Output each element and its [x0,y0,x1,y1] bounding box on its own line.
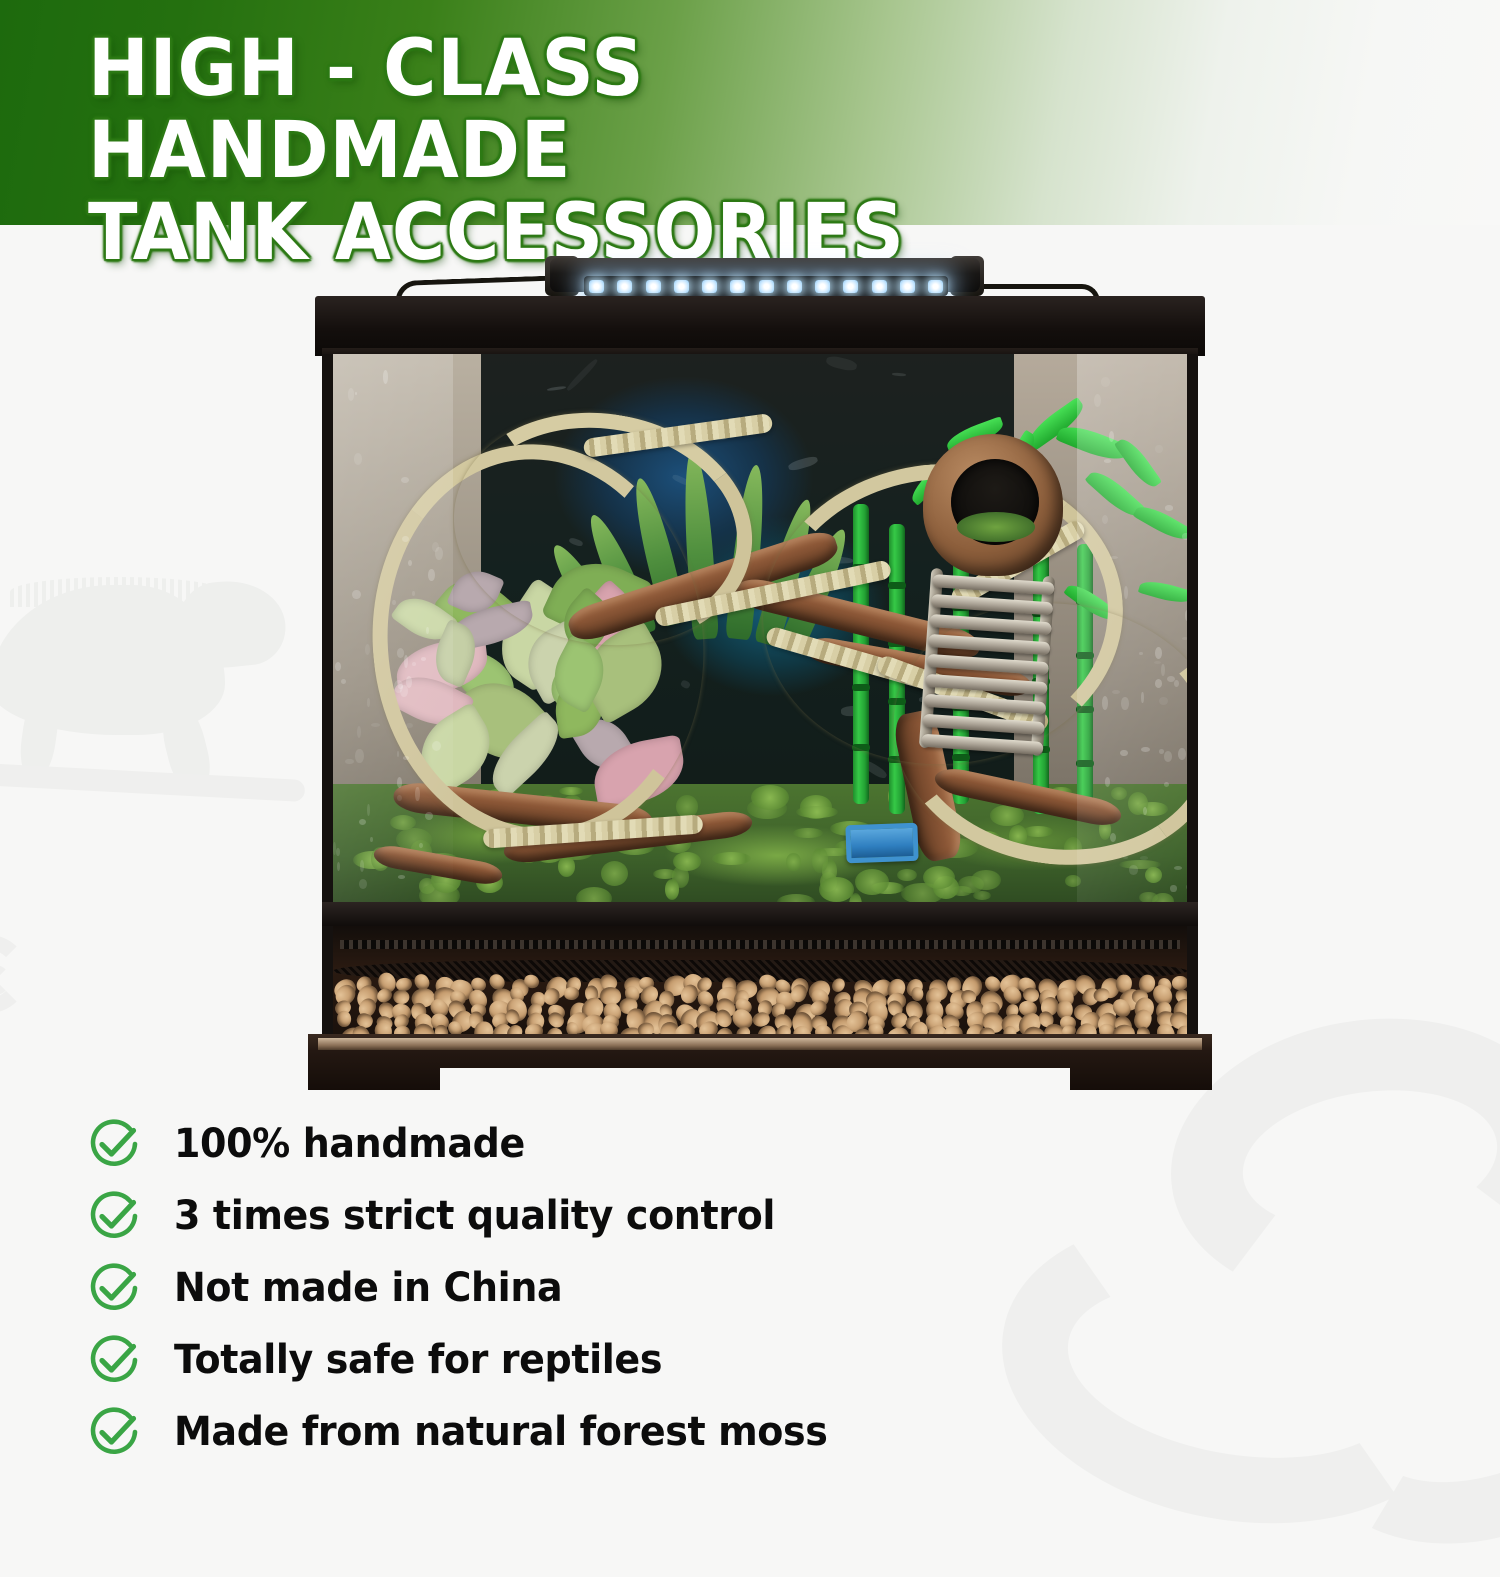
clay-pebble [1172,976,1188,990]
condensation-droplet [355,749,363,763]
rock-streak [547,386,567,392]
condensation-droplet [1185,610,1187,621]
condensation-droplet [421,657,427,661]
clay-pebble [336,1010,351,1027]
condensation-droplet [398,875,406,879]
condensation-droplet [1140,856,1148,860]
condensation-droplet [1186,885,1187,889]
condensation-droplet [397,777,402,788]
condensation-droplet [357,726,361,738]
condensation-droplet [337,862,340,871]
moss-tuft [712,852,752,865]
condensation-droplet [1170,885,1176,891]
list-item: Made from natural forest moss [86,1396,1036,1468]
condensation-droplet [402,536,409,542]
led-bulb [674,280,689,293]
led-bulb [730,280,745,293]
condensation-droplet [412,591,415,596]
condensation-droplet [1141,747,1150,752]
condensation-droplet [1155,445,1162,452]
led-strip [584,276,948,296]
condensation-droplet [1161,664,1165,676]
condensation-droplet [367,698,370,707]
chameleon-tail-inner-curl [0,965,10,995]
condensation-droplet [1164,751,1172,762]
condensation-droplet [1121,697,1128,709]
chameleon-crest [10,577,225,607]
condensation-droplet [1159,697,1168,705]
check-circle-icon [86,1332,142,1388]
moss-tuft [558,856,576,877]
list-item: Not made in China [86,1252,1036,1324]
condensation-droplet [360,860,364,872]
page-title: HIGH - CLASS HANDMADE TANK ACCESSORIES [88,28,1130,274]
condensation-droplet [1155,679,1162,688]
feature-label: 3 times strict quality control [174,1193,775,1239]
condensation-droplet [1102,696,1108,709]
condensation-droplet [432,542,439,552]
led-bulb [843,280,858,293]
feature-label: Totally safe for reptiles [174,1337,662,1383]
condensation-droplet [1167,676,1175,682]
condensation-droplet [432,741,441,751]
blue-feeding-dish [845,823,918,863]
condensation-droplet [1165,505,1174,510]
chameleon-branch [0,762,305,802]
moss-tuft [923,866,955,889]
chameleon-front-leg [16,695,61,781]
led-bulb [702,280,717,293]
coconut-hide-moss [957,512,1035,542]
condensation-droplet [1141,692,1143,703]
condensation-droplet [348,388,355,400]
check-circle-icon [86,1188,142,1244]
clay-pebble [1189,999,1198,1018]
condensation-droplet [408,560,412,566]
glass-tank [322,354,1198,914]
tank-stand-rail [318,1038,1202,1050]
snake-coil-lower [1287,1273,1500,1576]
ladder-rung [929,614,1052,635]
condensation-droplet [1104,459,1111,462]
condensation-droplet [1143,807,1147,815]
condensation-droplet [426,627,429,635]
ladder-rung [928,634,1051,655]
condensation-droplet [336,848,340,857]
condensation-droplet [1120,750,1127,757]
condensation-droplet [1129,865,1138,875]
tank-interior [333,354,1187,914]
moss-tuft [971,870,1001,890]
ladder-rung [922,714,1045,735]
condensation-droplet [419,843,423,848]
moss-tuft [812,847,829,872]
ladder-rung [927,654,1050,675]
led-bulb [787,280,802,293]
check-circle-icon [86,1404,142,1460]
condensation-droplet [371,723,380,727]
condensation-droplet [403,756,409,760]
rock-streak [825,354,858,372]
led-bulb [646,280,661,293]
ladder-rung [924,694,1047,715]
condensation-droplet [1182,637,1187,640]
moss-tuft [786,853,800,872]
chameleon-body [0,585,225,735]
header-banner: HIGH - CLASS HANDMADE TANK ACCESSORIES [0,0,1500,225]
tank-vent-strip [340,940,1180,949]
moss-tuft [1145,867,1162,883]
condensation-droplet [428,569,435,581]
condensation-droplet [1101,377,1110,386]
moss-tuft [601,861,628,886]
check-circle-icon [86,1116,142,1172]
moss-tuft [751,785,789,811]
condensation-droplet [415,787,419,801]
led-bulb [759,280,774,293]
wooden-ladder [919,568,1055,756]
banner-title-line-1: HIGH - CLASS HANDMADE [88,24,645,196]
ladder-rung [925,674,1048,695]
rock-streak [891,372,905,376]
led-bulb [815,280,830,293]
condensation-droplet [392,600,396,606]
rock-streak [788,454,819,471]
condensation-droplet [335,662,341,671]
product-photo [300,250,1220,1090]
condensation-droplet [1174,680,1179,687]
led-bulb [617,280,632,293]
moss-tuft [796,806,837,818]
condensation-droplet [354,453,362,465]
condensation-droplet [406,723,413,728]
condensation-droplet [425,812,433,820]
tank-hood [315,296,1205,356]
feature-label: Not made in China [174,1265,562,1311]
condensation-droplet [367,804,370,816]
feature-label: 100% handmade [174,1121,525,1167]
led-bulb [900,280,915,293]
chameleon-rear-leg [156,699,216,794]
list-item: 3 times strict quality control [86,1180,1036,1252]
moss-tuft [665,879,679,900]
condensation-droplet [401,477,408,483]
condensation-droplet [404,655,408,668]
tank-stand-notch [440,1068,1070,1094]
led-bulb [928,280,943,293]
moss-tuft [390,815,416,830]
feature-label: Made from natural forest moss [174,1409,828,1455]
clay-pebbles [333,974,1187,1036]
feature-list: 100% handmade 3 times strict quality con… [86,1108,1036,1468]
snake-coil-middle [978,1181,1493,1558]
clay-pebble [1194,1010,1198,1028]
chameleon-watermark [0,575,300,865]
clay-pebble [393,989,410,1004]
check-circle-icon [86,1260,142,1316]
moss-tuft [673,852,701,871]
rock-streak [565,357,598,391]
condensation-droplet [352,590,361,600]
moss-tuft [1065,875,1081,887]
condensation-droplet [359,879,367,889]
led-bulb [872,280,887,293]
moss-tuft [819,877,854,902]
list-item: Totally safe for reptiles [86,1324,1036,1396]
clay-pebble [1190,971,1198,998]
condensation-droplet [1182,533,1187,539]
moss-tuft [793,828,822,838]
condensation-droplet [1178,748,1186,760]
led-bulb [589,280,604,293]
ladder-rung [931,594,1054,615]
ladder-rung [932,574,1055,595]
chameleon-head [171,575,289,672]
list-item: 100% handmade [86,1108,1036,1180]
tank-lower-frame [322,902,1198,928]
condensation-droplet [345,759,354,765]
moss-tuft [855,869,889,895]
chameleon-tail-curl [0,935,28,1013]
clay-pebble [1188,988,1198,1009]
moss-tuft [897,869,917,881]
condensation-droplet [1094,394,1101,407]
condensation-droplet [1112,690,1120,694]
moss-tuft [1119,860,1161,869]
coconut-hide [923,434,1063,576]
moss-tuft [973,891,991,900]
